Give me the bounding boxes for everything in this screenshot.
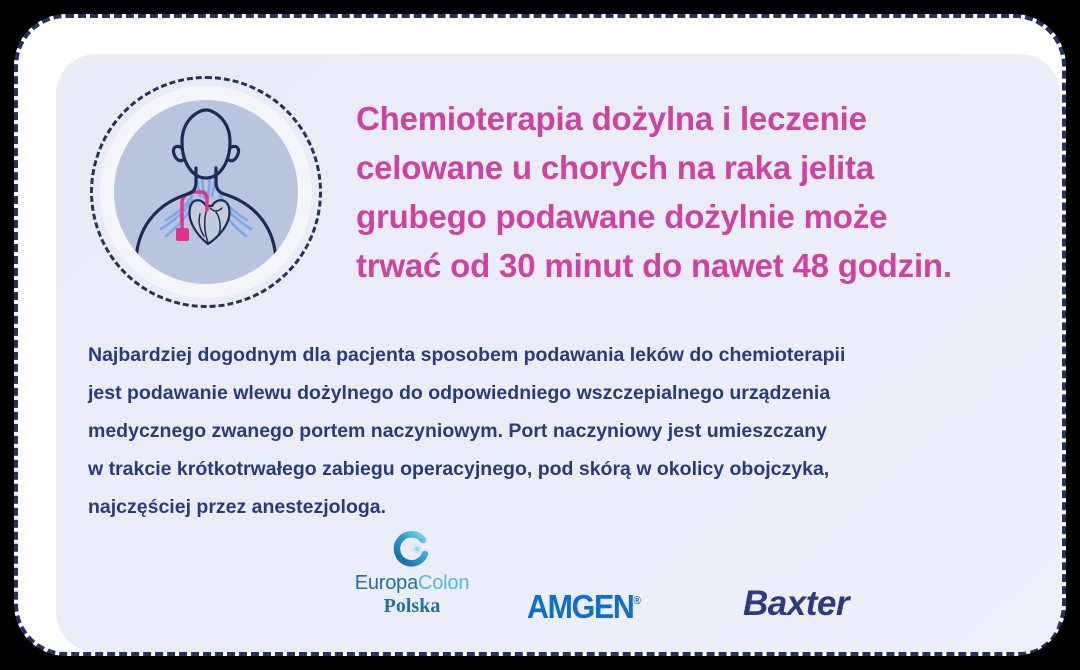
headline-line: trwać od 30 minut do nawet 48 godzin.: [356, 241, 1036, 290]
body-line: medycznego zwanego portem naczyniowym. P…: [88, 412, 1036, 450]
logo-amgen: AMGEN®: [510, 588, 657, 626]
europacolon-subtitle: Polska: [322, 595, 502, 618]
europacolon-ring-icon: [390, 530, 434, 570]
sponsor-logo-strip: EuropaColon Polska AMGEN® Baxter: [56, 530, 1060, 640]
body-paragraph: Najbardziej dogodnym dla pacjenta sposob…: [88, 336, 1036, 526]
headline-line: Chemioterapia dożylna i leczenie: [356, 94, 1036, 143]
logo-europacolon-polska: EuropaColon Polska: [322, 530, 502, 618]
body-line: najczęściej przez anestezjologa.: [88, 488, 1036, 526]
europacolon-word-part-2: Colon: [418, 572, 469, 594]
baxter-wordmark: Baxter: [743, 584, 849, 623]
headline: Chemioterapia dożylna i leczenie celowan…: [356, 94, 1036, 290]
amgen-wordmark: AMGEN: [527, 588, 634, 625]
body-line: jest podawanie wlewu dożylnego do odpowi…: [88, 374, 1036, 412]
hero-section: Chemioterapia dożylna i leczenie celowan…: [56, 54, 1060, 322]
infographic-outer-frame: Chemioterapia dożylna i leczenie celowan…: [14, 14, 1066, 656]
patient-torso-with-vascular-port-icon: [114, 100, 298, 284]
body-line: w trakcie krótkotrwałego zabiegu operacy…: [88, 450, 1036, 488]
headline-line: celowane u chorych na raka jelita: [356, 143, 1036, 192]
infographic-card: Chemioterapia dożylna i leczenie celowan…: [56, 54, 1060, 652]
logo-baxter: Baxter: [686, 584, 906, 624]
europacolon-word-part-1: Europa: [355, 572, 418, 594]
illustration-badge: [90, 76, 326, 308]
body-line: Najbardziej dogodnym dla pacjenta sposob…: [88, 336, 1036, 374]
headline-line: grubego podawane dożylnie może: [356, 192, 1036, 241]
amgen-registered-mark: ®: [634, 595, 641, 607]
europacolon-wordmark: EuropaColon: [322, 572, 502, 595]
